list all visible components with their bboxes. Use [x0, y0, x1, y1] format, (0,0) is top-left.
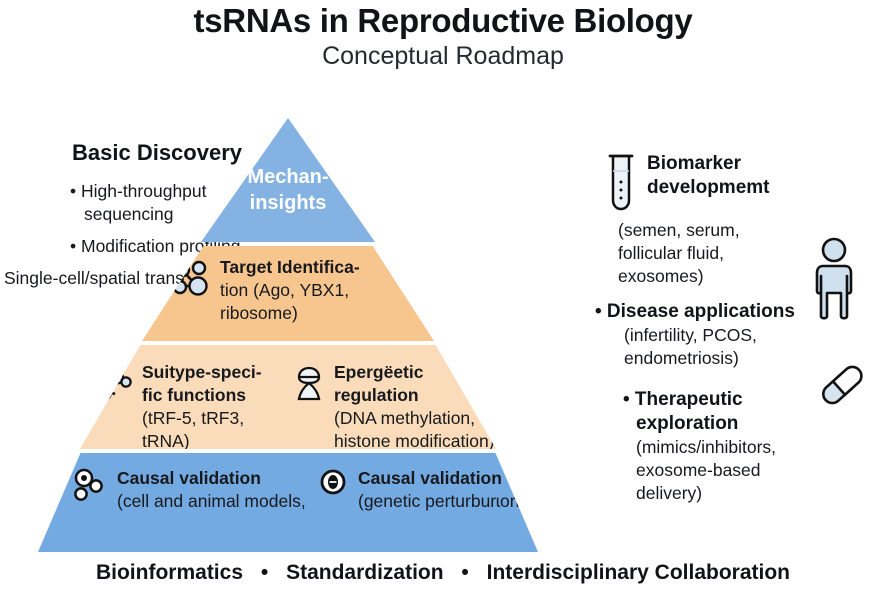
nucleus-cell-icon: [318, 468, 348, 507]
tier4-right-heading: Causal validation: [358, 468, 502, 488]
tier3-left-sub: (tRF-5, tRF3, tRNA): [142, 408, 244, 451]
footer-separator: •: [449, 561, 480, 585]
pyramid-tier-causal-validation[interactable]: Causal validation (cell and animal model…: [38, 453, 538, 552]
tier4-right-sub: (genetic perturburɩon): [358, 491, 525, 511]
page-title: tsRNAs in Reproductive Biology: [0, 2, 886, 40]
biomarker-development-item: Biomarker developmemt: [604, 152, 886, 219]
applications-panel: Biomarker developmemt (semen, serum, fol…: [604, 152, 886, 505]
tier3-left-heading-2: fic functions: [142, 385, 246, 405]
molecule-chain-icon: [94, 367, 132, 410]
tier1-label: Mechan- insights: [201, 164, 375, 216]
tier3-right-sub-1: (DNA methylation,: [334, 408, 475, 428]
footer-item-standardization: Standardization: [286, 561, 444, 584]
tier4-left-heading: Causal validation: [117, 468, 261, 488]
pyramid-tier-target-identification[interactable]: Target Identifica- tion (Ago, YBX1, ribo…: [142, 246, 434, 341]
tier2-line2: tion (Ago, YBX1,: [220, 280, 349, 300]
pyramid: Mechan- insights: [38, 118, 538, 553]
page-subtitle: Conceptual Roadmap: [0, 42, 886, 71]
tier1-label-line2: insights: [250, 192, 327, 214]
therapeutic-sub-2: exosome-based: [604, 459, 886, 482]
tier3-right-heading-1: Epergëetic: [334, 362, 423, 382]
therapeutic-sub-3: delivery): [604, 482, 886, 505]
tier3-right-content: Epergëetic regulation (DNA methylation, …: [294, 361, 499, 453]
tier3-left-heading-1: Suitype-speci-: [142, 362, 262, 382]
tier1-label-line1: Mechan-: [247, 166, 328, 188]
histone-hourglass-icon: [294, 364, 324, 409]
biomarker-heading-1: Biomarker: [647, 152, 769, 176]
molecule-network-icon: [170, 259, 210, 304]
tier2-heading: Target Identifica-: [220, 257, 360, 277]
tier3-left-content: Suitype-speci- fic functions (tRF-5, tRF…: [94, 361, 289, 453]
cells-icon: [71, 467, 107, 512]
pyramid-tier-subtype-epigenetic[interactable]: Suitype-speci- fic functions (tRF-5, tRF…: [80, 345, 496, 449]
capsule-pill-icon: [813, 362, 865, 419]
biomarker-text: Biomarker developmemt: [647, 152, 769, 200]
footer: Bioinformatics • Standardization • Inter…: [0, 561, 886, 585]
disease-sub-1: (infertility, PCOS,: [604, 324, 886, 347]
tier4-left-text: Causal validation (cell and animal model…: [117, 467, 306, 513]
tier2-text: Target Identifica- tion (Ago, YBX1, ribo…: [220, 256, 360, 325]
roadmap-figure: tsRNAs in Reproductive Biology Conceptua…: [0, 0, 886, 593]
pyramid-tier-mechanistic-insights[interactable]: Mechan- insights: [201, 118, 375, 242]
biomarker-heading-2: developmemt: [647, 176, 769, 200]
tier4-left-sub: (cell and animal models,: [117, 491, 306, 511]
tier2-line3: ribosome): [220, 303, 298, 323]
tier3-left-text: Suitype-speci- fic functions (tRF-5, tRF…: [142, 361, 289, 453]
footer-separator: •: [249, 561, 280, 585]
tier3-right-sub-2: histone modification): [334, 431, 495, 451]
footer-item-collaboration: Interdisciplinary Collaboration: [487, 561, 790, 584]
tier3-right-heading-2: regulation: [334, 385, 419, 405]
tier2-content: Target Identifica- tion (Ago, YBX1, ribo…: [170, 256, 420, 325]
therapeutic-sub-1: (mimics/inhibitors,: [604, 436, 886, 459]
tier3-right-text: Epergëetic regulation (DNA methylation, …: [334, 361, 495, 453]
footer-item-bioinformatics: Bioinformatics: [96, 561, 243, 584]
tier4-left-content: Causal validation (cell and animal model…: [71, 467, 311, 513]
tier4-right-content: Causal validation (genetic perturburɩon): [318, 467, 543, 513]
test-tube-icon: [604, 152, 638, 219]
person-icon: [805, 236, 863, 327]
tier4-right-text: Causal validation (genetic perturburɩon): [358, 467, 525, 513]
